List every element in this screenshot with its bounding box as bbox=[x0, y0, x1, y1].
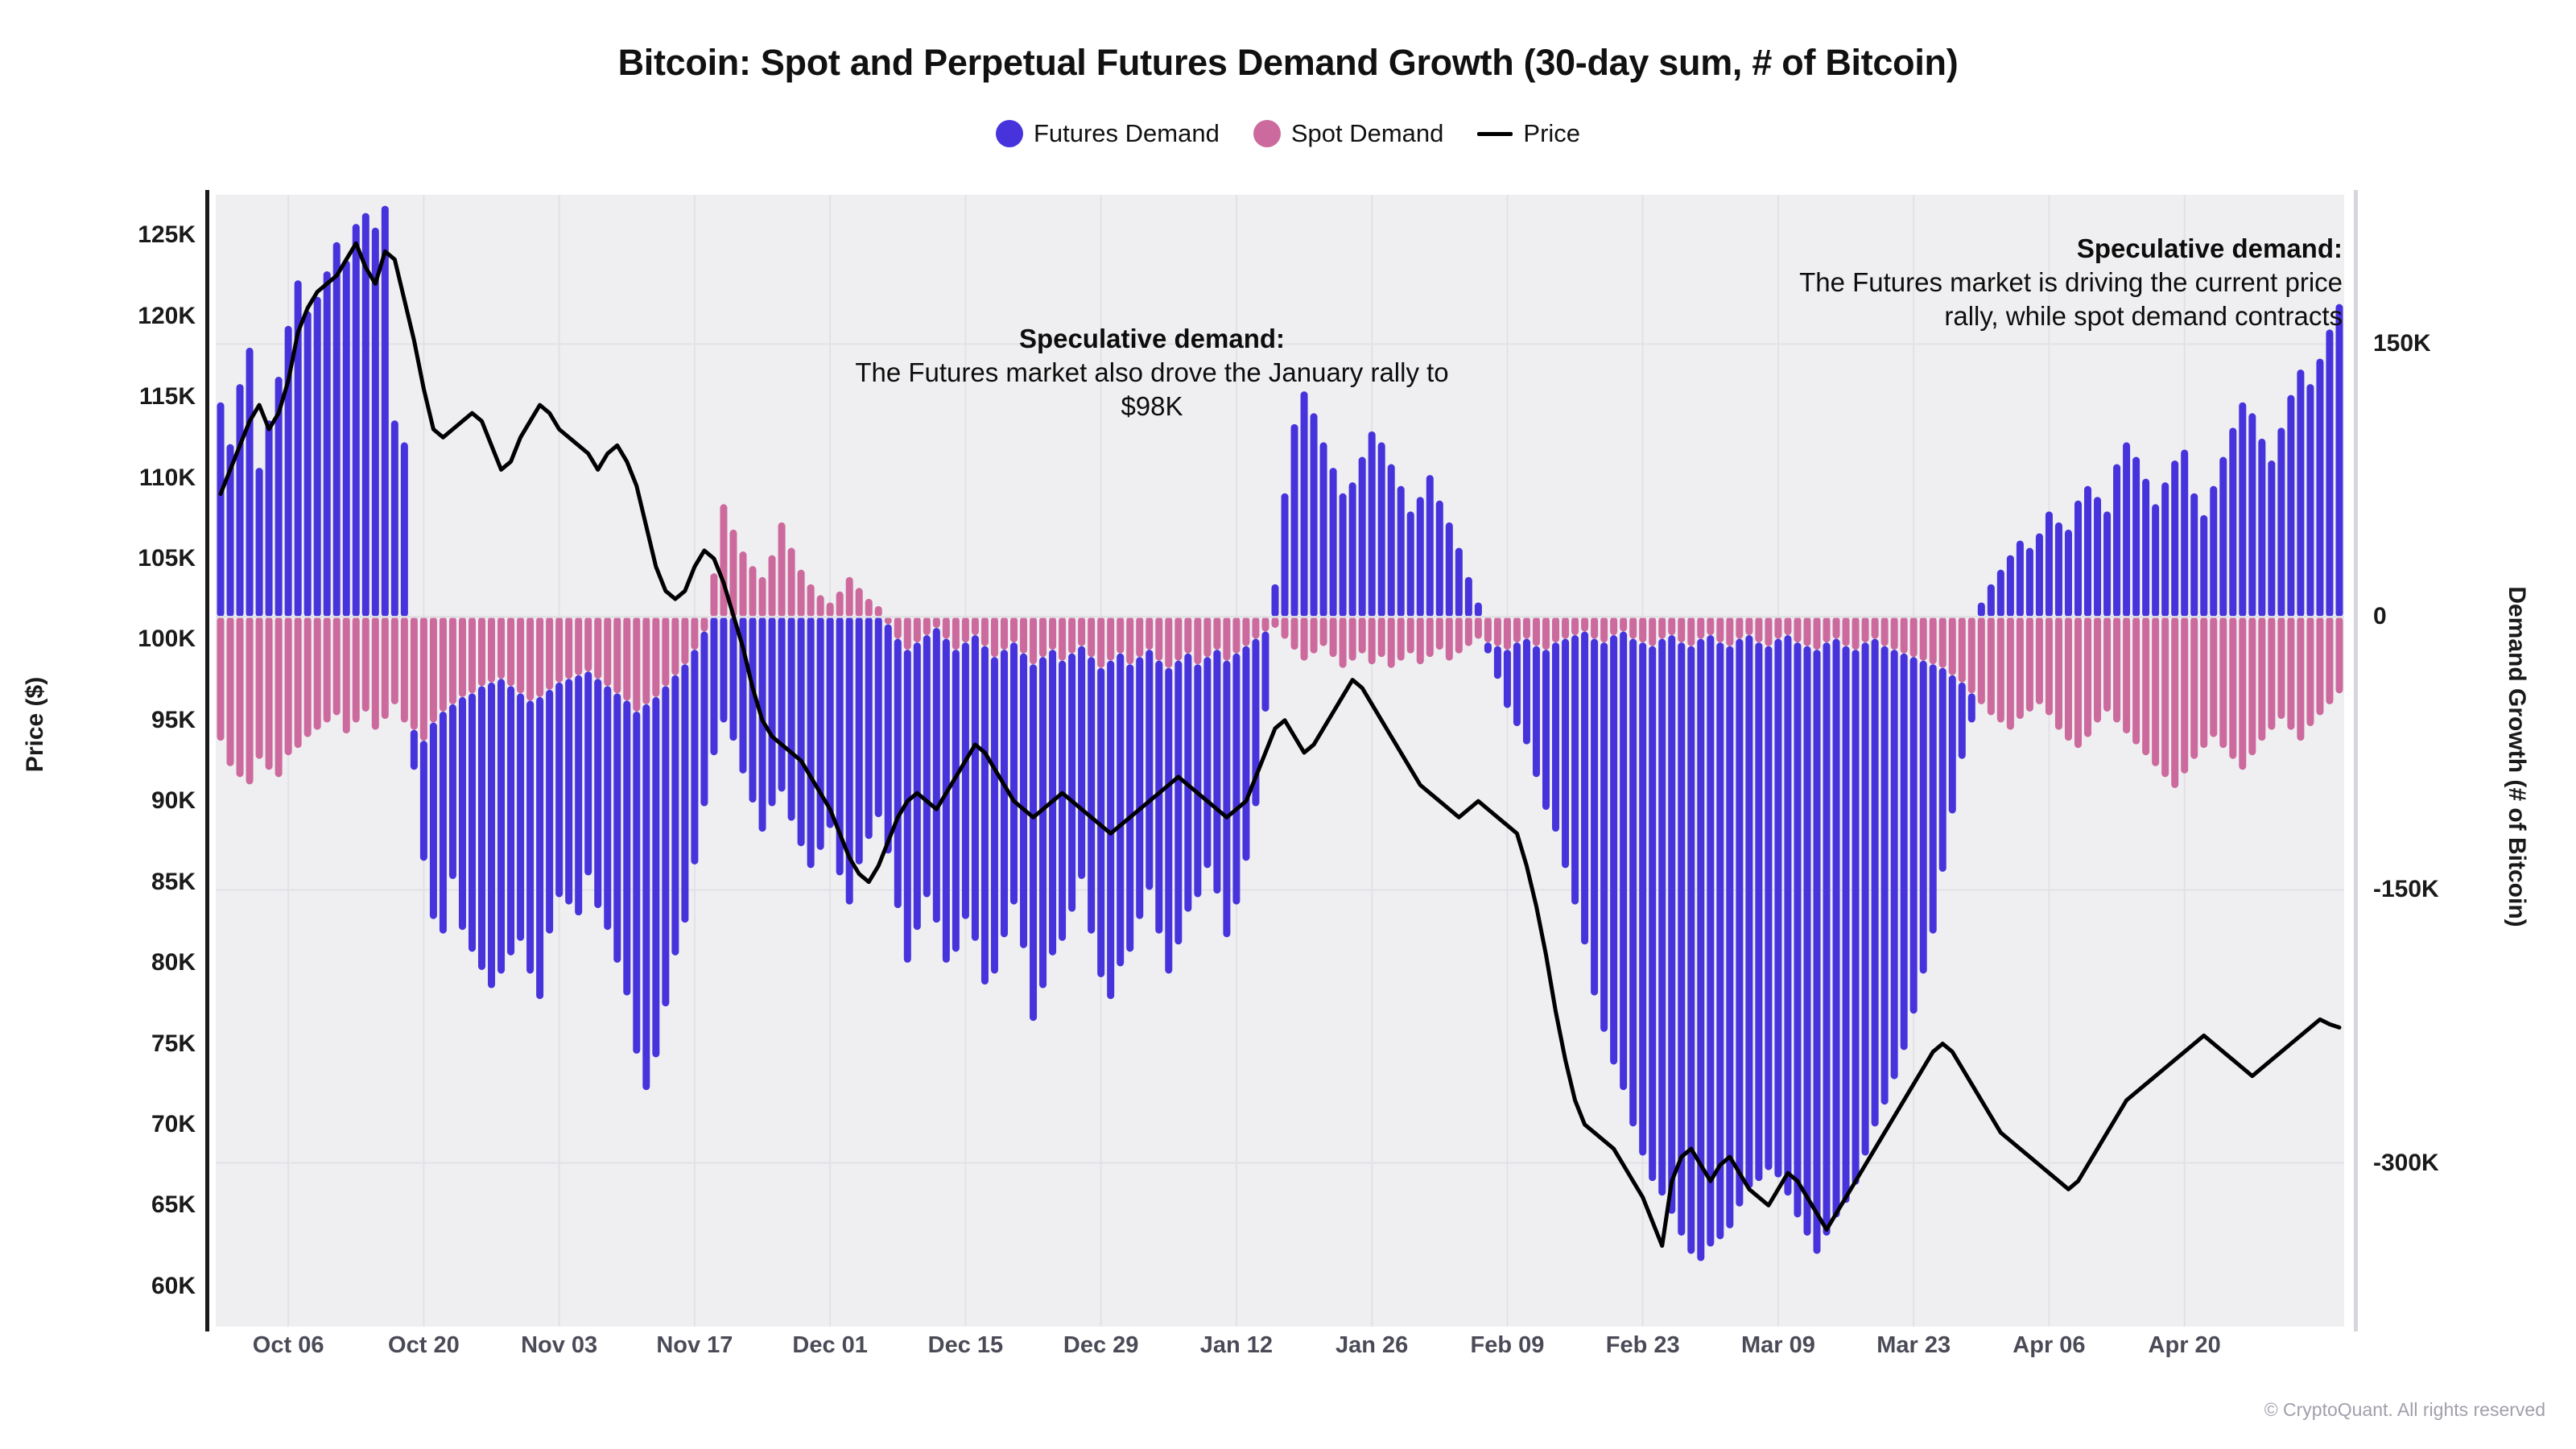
right-axis-tick: -150K bbox=[2373, 876, 2439, 903]
legend-label-futures-demand: Futures Demand bbox=[1034, 119, 1220, 148]
annotation-current-head: Speculative demand: bbox=[1755, 232, 2343, 266]
chart-legend: Futures Demand Spot Demand Price bbox=[0, 119, 2576, 148]
legend-label-spot-demand: Spot Demand bbox=[1291, 119, 1444, 148]
line-marker-icon bbox=[1477, 132, 1513, 136]
left-axis-tick: 120K bbox=[138, 303, 196, 330]
right-axis-tick: -300K bbox=[2373, 1150, 2439, 1177]
left-axis-tick: 110K bbox=[139, 464, 196, 492]
x-axis-tick: Jan 12 bbox=[1200, 1332, 1273, 1359]
x-axis-tick: Mar 23 bbox=[1876, 1332, 1951, 1359]
footer-credit: © CryptoQuant. All rights reserved bbox=[2264, 1399, 2545, 1421]
left-axis-tick: 80K bbox=[151, 949, 196, 976]
left-axis-title: Price ($) bbox=[22, 677, 49, 772]
left-axis-tick: 100K bbox=[138, 625, 196, 653]
annotation-january-head: Speculative demand: bbox=[834, 322, 1470, 356]
x-axis-labels: Oct 06Oct 20Nov 03Nov 17Dec 01Dec 15Dec … bbox=[0, 1332, 2576, 1381]
x-axis-tick: Dec 01 bbox=[792, 1332, 868, 1359]
right-axis-tick: 0 bbox=[2373, 603, 2387, 630]
x-axis-tick: Nov 03 bbox=[521, 1332, 597, 1359]
x-axis-tick: Feb 09 bbox=[1470, 1332, 1544, 1359]
x-axis-tick: Apr 20 bbox=[2149, 1332, 2221, 1359]
left-axis-tick: 60K bbox=[151, 1273, 196, 1300]
left-axis-tick: 70K bbox=[151, 1111, 196, 1138]
page-title: Bitcoin: Spot and Perpetual Futures Dema… bbox=[0, 42, 2576, 84]
x-axis-tick: Nov 17 bbox=[656, 1332, 733, 1359]
x-axis-tick: Dec 29 bbox=[1063, 1332, 1139, 1359]
circle-marker-icon bbox=[1253, 120, 1281, 147]
legend-item-futures-demand[interactable]: Futures Demand bbox=[996, 119, 1220, 148]
x-axis-tick: Dec 15 bbox=[928, 1332, 1004, 1359]
left-axis-tick: 65K bbox=[151, 1191, 196, 1219]
left-axis-tick: 90K bbox=[151, 787, 196, 815]
x-axis-tick: Apr 06 bbox=[2013, 1332, 2085, 1359]
left-axis-tick: 95K bbox=[151, 707, 196, 734]
circle-marker-icon bbox=[996, 120, 1023, 147]
right-axis-spine bbox=[2354, 190, 2358, 1331]
annotation-current-rally: Speculative demand: The Futures market i… bbox=[1755, 232, 2343, 334]
annotation-current-body: The Futures market is driving the curren… bbox=[1755, 266, 2343, 333]
right-axis-tick: 150K bbox=[2373, 330, 2431, 357]
left-axis-tick: 115K bbox=[139, 383, 196, 411]
right-axis-title: Demand Growth (# of Bitcoin) bbox=[2503, 586, 2530, 927]
annotation-january-body: The Futures market also drove the Januar… bbox=[834, 356, 1470, 423]
x-axis-tick: Mar 09 bbox=[1741, 1332, 1815, 1359]
x-axis-tick: Oct 06 bbox=[253, 1332, 324, 1359]
left-axis-tick: 125K bbox=[138, 221, 196, 249]
x-axis-tick: Jan 26 bbox=[1335, 1332, 1408, 1359]
annotation-january-rally: Speculative demand: The Futures market a… bbox=[834, 322, 1470, 424]
legend-item-price[interactable]: Price bbox=[1477, 119, 1580, 148]
x-axis-tick: Feb 23 bbox=[1606, 1332, 1680, 1359]
left-axis-tick: 75K bbox=[151, 1030, 196, 1058]
left-axis-spine bbox=[205, 190, 209, 1331]
right-axis-labels: -300K-150K0150K bbox=[2373, 0, 2576, 1449]
left-axis-tick: 85K bbox=[151, 869, 196, 896]
chart-root: Bitcoin: Spot and Perpetual Futures Dema… bbox=[0, 0, 2576, 1449]
x-axis-tick: Oct 20 bbox=[388, 1332, 460, 1359]
left-axis-tick: 105K bbox=[138, 545, 196, 572]
legend-item-spot-demand[interactable]: Spot Demand bbox=[1253, 119, 1444, 148]
legend-label-price: Price bbox=[1523, 119, 1580, 148]
